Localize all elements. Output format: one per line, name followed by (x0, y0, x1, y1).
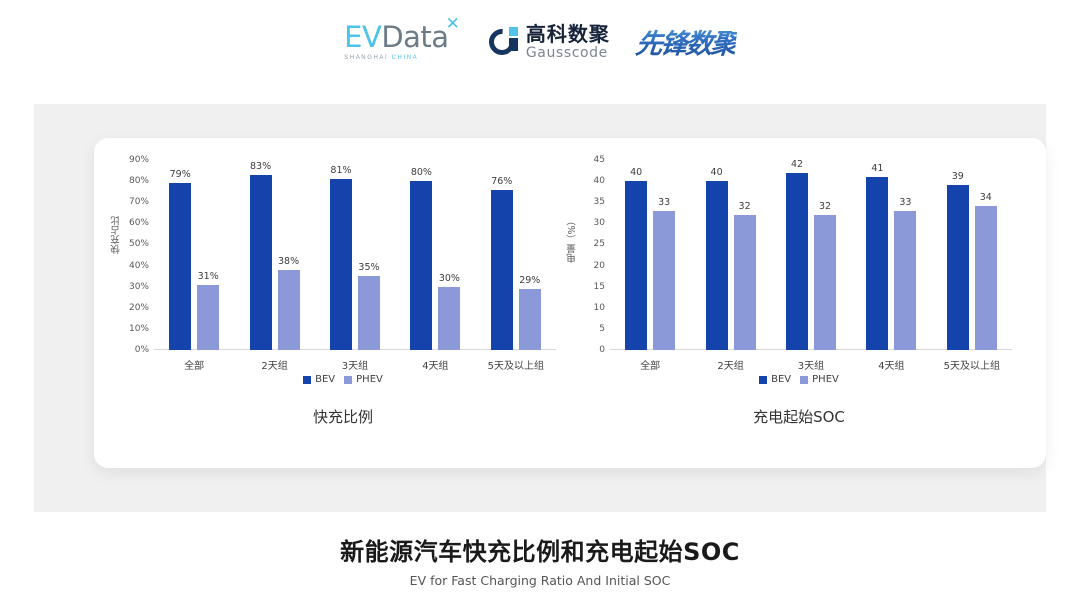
evdata-ev-text: EV (344, 23, 381, 52)
bar-value-label: 31% (198, 271, 219, 282)
gausscode-en-text: Gausscode (526, 46, 610, 60)
gausscode-mark-icon (489, 27, 519, 57)
x-axis-category-label: 2天组 (234, 357, 314, 372)
bar-bev[interactable]: 79% (169, 183, 191, 350)
bar-group: 40322天组 (690, 160, 770, 350)
bar-bev[interactable]: 39 (947, 185, 969, 350)
y-axis-tick: 10% (129, 324, 149, 334)
x-axis-category-label: 5天及以上组 (932, 357, 1012, 372)
bar-group: 39345天及以上组 (932, 160, 1012, 350)
bar-phev[interactable]: 30% (438, 287, 460, 350)
bar-phev[interactable]: 32 (814, 215, 836, 350)
y-axis-tick: 20% (129, 303, 149, 313)
bar-bev[interactable]: 42 (786, 173, 808, 350)
x-axis-category-label: 全部 (610, 357, 690, 372)
bar-value-label: 33 (658, 197, 670, 208)
bar-phev[interactable]: 29% (519, 289, 541, 350)
bar-group: 83%38%2天组 (234, 160, 314, 350)
bar-phev[interactable]: 38% (278, 270, 300, 350)
bar-value-label: 42 (791, 159, 803, 170)
y-axis-tick: 70% (129, 197, 149, 207)
bar-group: 4033全部 (610, 160, 690, 350)
evdata-wordmark: EVData✕ (344, 23, 463, 52)
bar-value-label: 32 (819, 201, 831, 212)
x-axis-category-label: 4天组 (851, 357, 931, 372)
evdata-sub-right: CHINA (392, 55, 419, 61)
legend-swatch (344, 376, 352, 384)
y-axis-tick: 90% (129, 155, 149, 165)
chart-fast-charging-ratio: 快充占比0%10%20%30%40%50%60%70%80%90%79%31%全… (108, 138, 578, 468)
bar-value-label: 39 (952, 171, 964, 182)
legend-swatch (800, 376, 808, 384)
bar-phev[interactable]: 35% (358, 276, 380, 350)
bar-value-label: 40 (630, 167, 642, 178)
page-title: 新能源汽车快充比例和充电起始SOC (0, 532, 1080, 567)
y-axis-tick: 50% (129, 239, 149, 249)
bar-group: 76%29%5天及以上组 (476, 160, 556, 350)
bar-bev[interactable]: 76% (491, 190, 513, 350)
bar-value-label: 76% (491, 176, 512, 187)
gausscode-logo: 高科数聚 Gausscode (489, 24, 610, 60)
gausscode-cn-text: 高科数聚 (526, 24, 610, 44)
bar-value-label: 30% (439, 273, 460, 284)
bar-value-label: 34 (980, 192, 992, 203)
bar-phev[interactable]: 33 (894, 211, 916, 350)
bar-value-label: 29% (519, 275, 540, 286)
y-axis-tick: 30% (129, 282, 149, 292)
y-axis-tick: 80% (129, 176, 149, 186)
bar-group: 41334天组 (851, 160, 931, 350)
legend-swatch (303, 376, 311, 384)
bar-value-label: 81% (330, 165, 351, 176)
y-axis-tick: 0 (599, 345, 605, 355)
bar-phev[interactable]: 32 (734, 215, 756, 350)
plot-area: 0510152025303540454033全部40322天组42323天组41… (610, 160, 1012, 350)
y-axis-label: 快充占比 (110, 216, 124, 254)
bar-group: 81%35%3天组 (315, 160, 395, 350)
bar-phev[interactable]: 33 (653, 211, 675, 350)
bar-phev[interactable]: 34 (975, 206, 997, 350)
evdata-logo: EVData✕ SHANGHAI CHINA (344, 23, 463, 61)
y-axis-tick: 40% (129, 261, 149, 271)
chart-legend: BEVPHEV (108, 374, 578, 385)
y-axis-tick: 40 (594, 176, 605, 186)
y-axis-tick: 15 (594, 282, 605, 292)
legend-item-bev[interactable]: BEV (303, 374, 335, 385)
bar-bev[interactable]: 80% (410, 181, 432, 350)
legend-item-bev[interactable]: BEV (759, 374, 791, 385)
x-axis-category-label: 2天组 (690, 357, 770, 372)
chart-legend: BEVPHEV (564, 374, 1034, 385)
y-axis-tick: 25 (594, 239, 605, 249)
x-axis-category-label: 4天组 (395, 357, 475, 372)
chart-title: 充电起始SOC (564, 406, 1034, 427)
legend-item-phev[interactable]: PHEV (800, 374, 839, 385)
y-axis-tick: 30 (594, 218, 605, 228)
bar-group: 80%30%4天组 (395, 160, 475, 350)
y-axis-label: 电量（%） (566, 216, 580, 263)
bar-value-label: 41 (871, 163, 883, 174)
bar-group: 42323天组 (771, 160, 851, 350)
x-mark-icon: ✕ (446, 14, 460, 34)
logo-bar: EVData✕ SHANGHAI CHINA 高科数聚 Gausscode 先锋… (0, 22, 1080, 61)
bar-value-label: 79% (170, 169, 191, 180)
bar-value-label: 80% (411, 167, 432, 178)
x-axis-category-label: 3天组 (771, 357, 851, 372)
legend-label: PHEV (356, 374, 383, 385)
legend-swatch (759, 376, 767, 384)
legend-label: PHEV (812, 374, 839, 385)
bar-group: 79%31%全部 (154, 160, 234, 350)
bar-phev[interactable]: 31% (197, 285, 219, 350)
bar-bev[interactable]: 41 (866, 177, 888, 350)
charts-card: 快充占比0%10%20%30%40%50%60%70%80%90%79%31%全… (94, 138, 1046, 468)
legend-label: BEV (771, 374, 791, 385)
x-axis-category-label: 5天及以上组 (476, 357, 556, 372)
bar-value-label: 33 (899, 197, 911, 208)
bar-value-label: 35% (358, 262, 379, 273)
bar-value-label: 32 (739, 201, 751, 212)
bar-bev[interactable]: 81% (330, 179, 352, 350)
y-axis-tick: 35 (594, 197, 605, 207)
plot-area: 0%10%20%30%40%50%60%70%80%90%79%31%全部83%… (154, 160, 556, 350)
y-axis-tick: 0% (135, 345, 149, 355)
page-subtitle: EV for Fast Charging Ratio And Initial S… (0, 573, 1080, 588)
footer: 新能源汽车快充比例和充电起始SOC EV for Fast Charging R… (0, 532, 1080, 588)
bar-value-label: 40 (711, 167, 723, 178)
bar-value-label: 83% (250, 161, 271, 172)
xianfeng-logo: 先锋数聚 (636, 22, 736, 61)
y-axis-tick: 60% (129, 218, 149, 228)
chart-initial-soc: 电量（%）0510152025303540454033全部40322天组4232… (564, 138, 1034, 468)
y-axis-tick: 20 (594, 261, 605, 271)
bar-value-label: 38% (278, 256, 299, 267)
evdata-sub-left: SHANGHAI (344, 55, 388, 61)
x-axis-category-label: 3天组 (315, 357, 395, 372)
y-axis-tick: 5 (599, 324, 605, 334)
y-axis-tick: 10 (594, 303, 605, 313)
bar-bev[interactable]: 40 (706, 181, 728, 350)
y-axis-tick: 45 (594, 155, 605, 165)
bar-bev[interactable]: 83% (250, 175, 272, 350)
bar-bev[interactable]: 40 (625, 181, 647, 350)
chart-title: 快充比例 (108, 406, 578, 427)
xianfeng-cn-text: 先锋数聚 (634, 22, 738, 61)
legend-item-phev[interactable]: PHEV (344, 374, 383, 385)
evdata-subtitle: SHANGHAI CHINA (344, 55, 418, 61)
evdata-data-text: Data (381, 23, 448, 52)
x-axis-category-label: 全部 (154, 357, 234, 372)
slide-root: EVData✕ SHANGHAI CHINA 高科数聚 Gausscode 先锋… (0, 0, 1080, 608)
legend-label: BEV (315, 374, 335, 385)
